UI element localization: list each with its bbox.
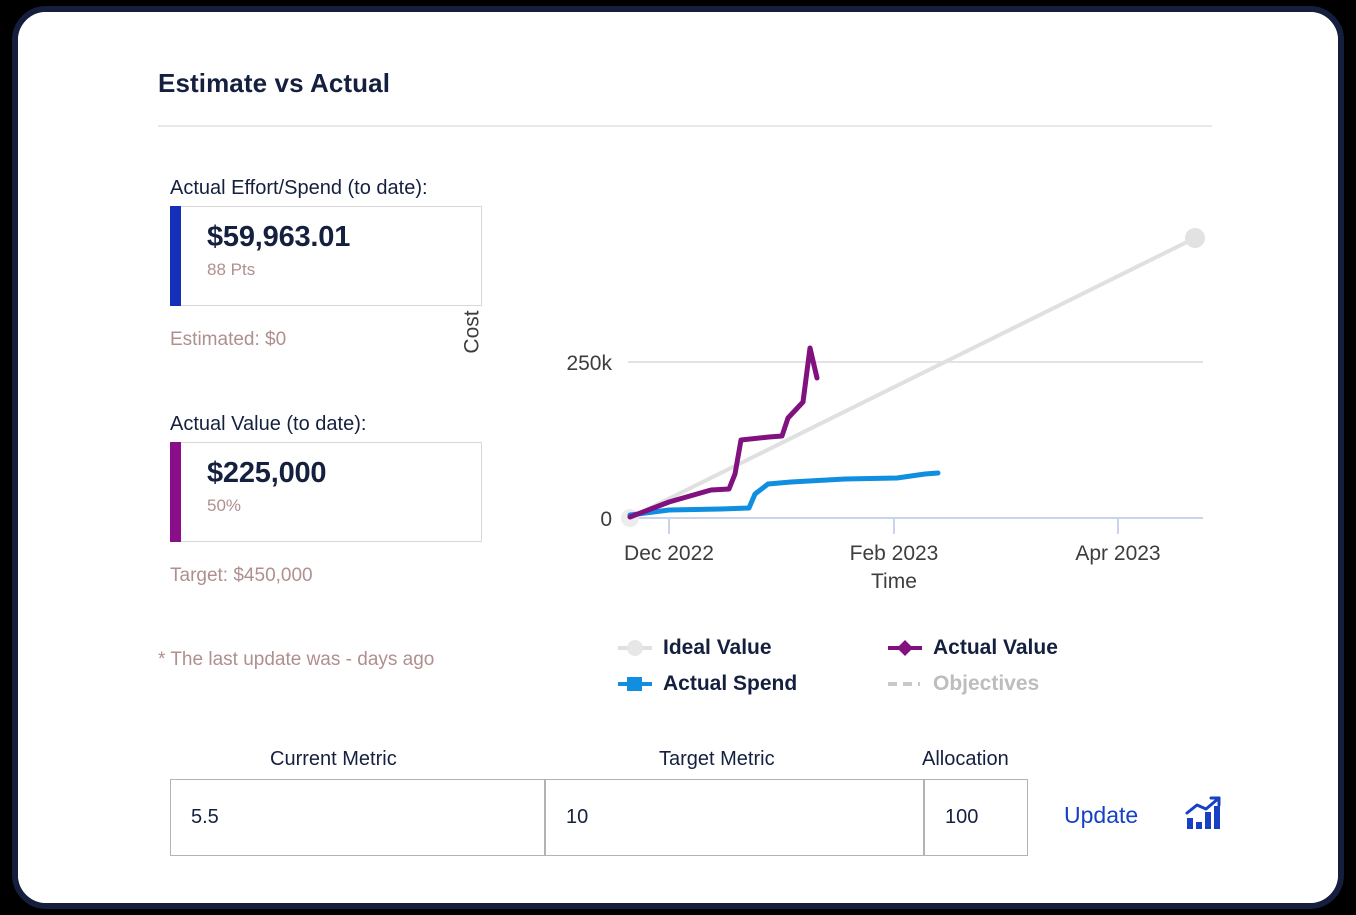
target-metric-input[interactable]: 10: [545, 779, 924, 856]
value-amount: $225,000: [207, 457, 481, 490]
estimate-vs-actual-panel: Estimate vs Actual Actual Effort/Spend (…: [18, 12, 1338, 903]
x-axis-title: Time: [871, 570, 917, 594]
ytick-label-0: 0: [600, 508, 612, 531]
legend-item-objectives[interactable]: Objectives: [886, 672, 1086, 696]
update-button[interactable]: Update: [1064, 802, 1138, 829]
dashed-line-marker-icon: [886, 674, 924, 694]
effort-accent-bar: [170, 206, 181, 306]
xtick-label-feb-2023: Feb 2023: [850, 542, 939, 565]
current-metric-input[interactable]: 5.5: [170, 779, 545, 856]
actual-effort-label: Actual Effort/Spend (to date):: [170, 177, 428, 200]
actual-effort-card: $59,963.01 88 Pts: [170, 206, 482, 306]
actual-value-card: $225,000 50%: [170, 442, 482, 542]
chart-analytics-icon[interactable]: [1184, 796, 1222, 832]
value-card-body: $225,000 50%: [181, 443, 481, 541]
last-update-note: * The last update was - days ago: [158, 644, 468, 675]
current-metric-header: Current Metric: [270, 748, 397, 771]
page-title: Estimate vs Actual: [158, 68, 390, 99]
chart-canvas: 250k 0 Dec 2022 Feb 2023 Apr 2023: [473, 202, 1218, 602]
target-metric-header: Target Metric: [659, 748, 775, 771]
actual-value-label: Actual Value (to date):: [170, 413, 366, 436]
effort-estimated-footer: Estimated: $0: [170, 329, 286, 351]
header-divider: [158, 125, 1212, 127]
ytick-label-250k: 250k: [566, 352, 612, 375]
legend-item-actual-value[interactable]: Actual Value: [886, 636, 1086, 660]
effort-card-body: $59,963.01 88 Pts: [181, 207, 481, 305]
effort-points: 88 Pts: [207, 260, 481, 280]
y-axis-title: Cost: [461, 310, 485, 353]
legend-label: Actual Value: [933, 636, 1058, 660]
legend-label: Objectives: [933, 672, 1039, 696]
effort-value: $59,963.01: [207, 221, 481, 254]
series-actual-value-line: [630, 348, 817, 517]
value-target-footer: Target: $450,000: [170, 565, 313, 587]
chart-legend: Ideal Value Actual Value Actual Spend: [616, 630, 1086, 702]
value-percent: 50%: [207, 496, 481, 516]
value-accent-bar: [170, 442, 181, 542]
legend-label: Actual Spend: [663, 672, 797, 696]
legend-label: Ideal Value: [663, 636, 772, 660]
legend-item-ideal-value[interactable]: Ideal Value: [616, 636, 886, 660]
allocation-input[interactable]: 100: [924, 779, 1028, 856]
estimate-vs-actual-chart: Cost Time 250k 0 Dec 2022 Feb 2023 Apr 2…: [473, 202, 1218, 602]
square-marker-icon: [616, 674, 654, 694]
series-ideal-value-end-marker: [1185, 228, 1205, 248]
app-window: Estimate vs Actual Actual Effort/Spend (…: [12, 6, 1344, 909]
legend-item-actual-spend[interactable]: Actual Spend: [616, 672, 886, 696]
allocation-header: Allocation: [922, 748, 1009, 771]
xtick-label-dec-2022: Dec 2022: [624, 542, 714, 565]
xtick-label-apr-2023: Apr 2023: [1075, 542, 1160, 565]
circle-marker-icon: [616, 638, 654, 658]
diamond-marker-icon: [886, 638, 924, 658]
